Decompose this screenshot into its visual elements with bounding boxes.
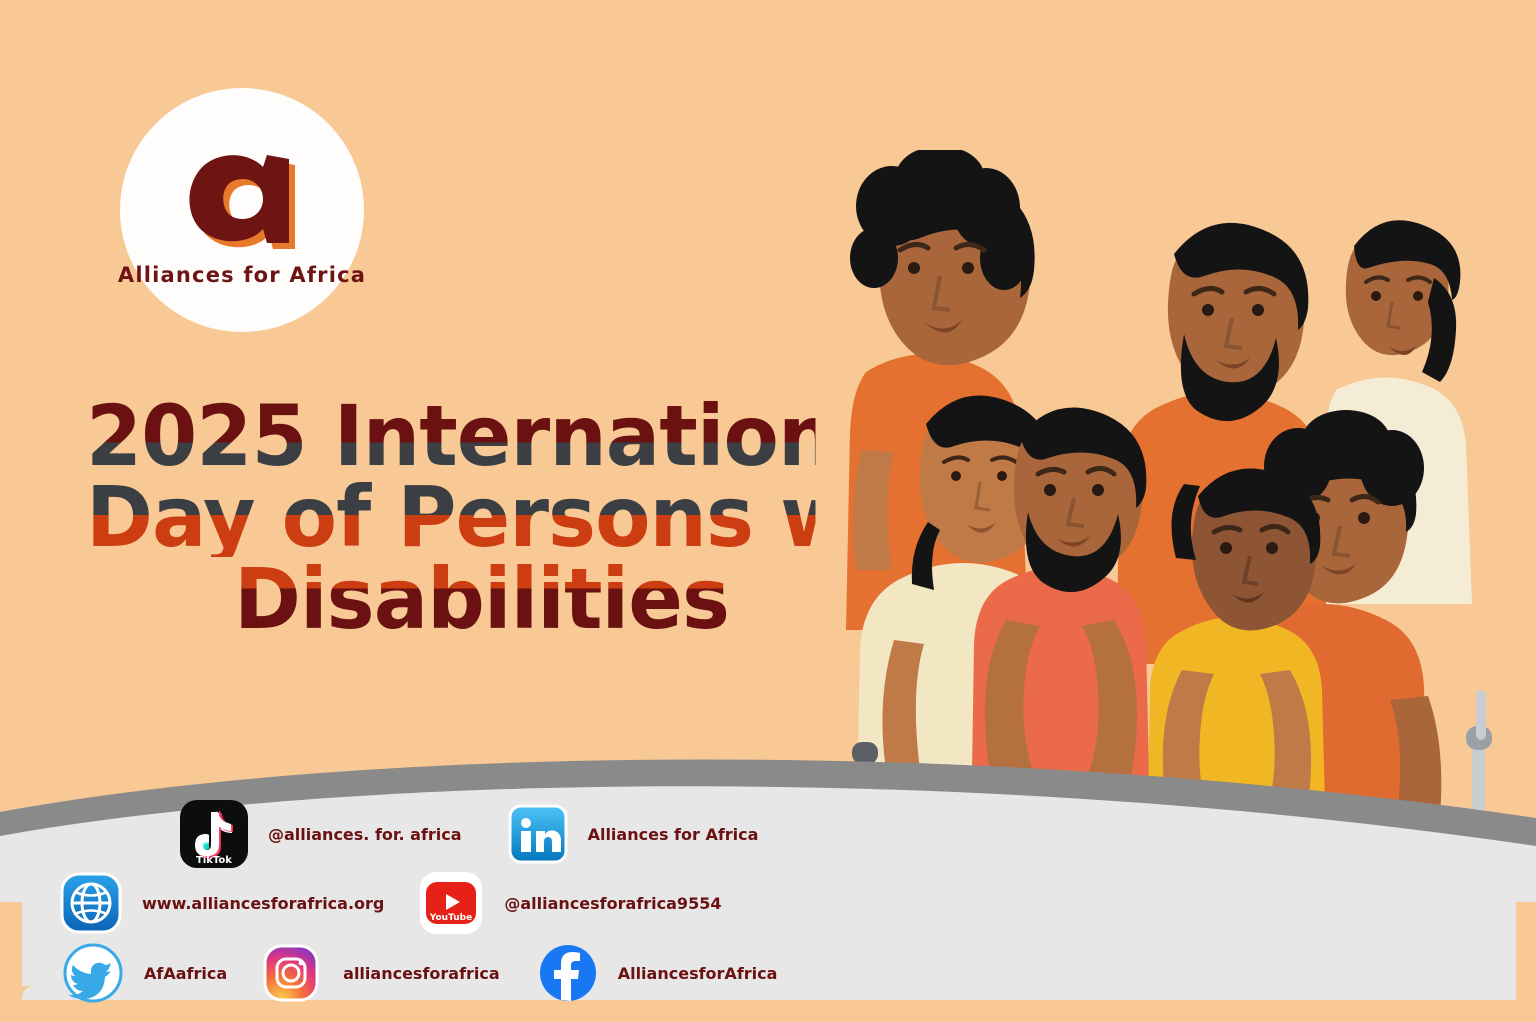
social-item-facebook[interactable]: AlliancesforAfrica — [538, 943, 778, 1003]
social-item-twitter[interactable]: AfAafrica — [62, 942, 227, 1004]
youtube-handle: @alliancesforafrica9554 — [504, 894, 721, 913]
linkedin-icon[interactable] — [508, 804, 568, 864]
social-item-youtube[interactable]: YouTube @alliancesforafrica9554 — [420, 872, 721, 934]
social-row-2: www.alliancesforafrica.org YouTube @alli… — [60, 872, 721, 934]
tiktok-handle: @alliances. for. africa — [268, 825, 462, 844]
social-row-1: TikTok @alliances. for. africa — [180, 800, 758, 868]
tiktok-icon[interactable]: TikTok — [180, 800, 248, 868]
twitter-icon[interactable] — [62, 942, 124, 1004]
poster-canvas: Alliances for Africa 2025 International … — [0, 0, 1536, 1022]
social-item-instagram[interactable]: alliancesforafrica — [261, 943, 500, 1003]
social-item-website[interactable]: www.alliancesforafrica.org — [60, 872, 384, 934]
globe-icon[interactable] — [60, 872, 122, 934]
twitter-handle: AfAafrica — [144, 964, 227, 983]
linkedin-handle: Alliances for Africa — [588, 825, 759, 844]
footer-social-rows: TikTok @alliances. for. africa — [0, 752, 1536, 1022]
logo-letter-a-icon — [177, 139, 307, 257]
poster-headline: 2025 International Day of Persons with D… — [86, 398, 846, 638]
svg-text:YouTube: YouTube — [429, 913, 472, 923]
youtube-icon[interactable]: YouTube — [420, 872, 482, 934]
headline-line-3: Disabilities — [234, 561, 822, 638]
instagram-icon[interactable] — [261, 943, 321, 1003]
website-url: www.alliancesforafrica.org — [142, 894, 384, 913]
social-item-tiktok[interactable]: TikTok @alliances. for. africa — [180, 800, 462, 868]
organization-logo: Alliances for Africa — [120, 88, 364, 332]
people-illustration — [836, 150, 1536, 850]
person-back-left — [846, 150, 1035, 630]
instagram-handle: alliancesforafrica — [343, 964, 500, 983]
facebook-handle: AlliancesforAfrica — [618, 964, 778, 983]
social-item-linkedin[interactable]: Alliances for Africa — [508, 804, 759, 864]
facebook-icon[interactable] — [538, 943, 598, 1003]
social-row-3: AfAafrica alliancesforafrica — [62, 942, 777, 1004]
headline-line-2: Day of Persons with — [86, 479, 816, 556]
logo-wordmark: Alliances for Africa — [118, 263, 366, 287]
headline-line-1: 2025 International — [86, 398, 816, 475]
svg-text:TikTok: TikTok — [196, 855, 232, 866]
